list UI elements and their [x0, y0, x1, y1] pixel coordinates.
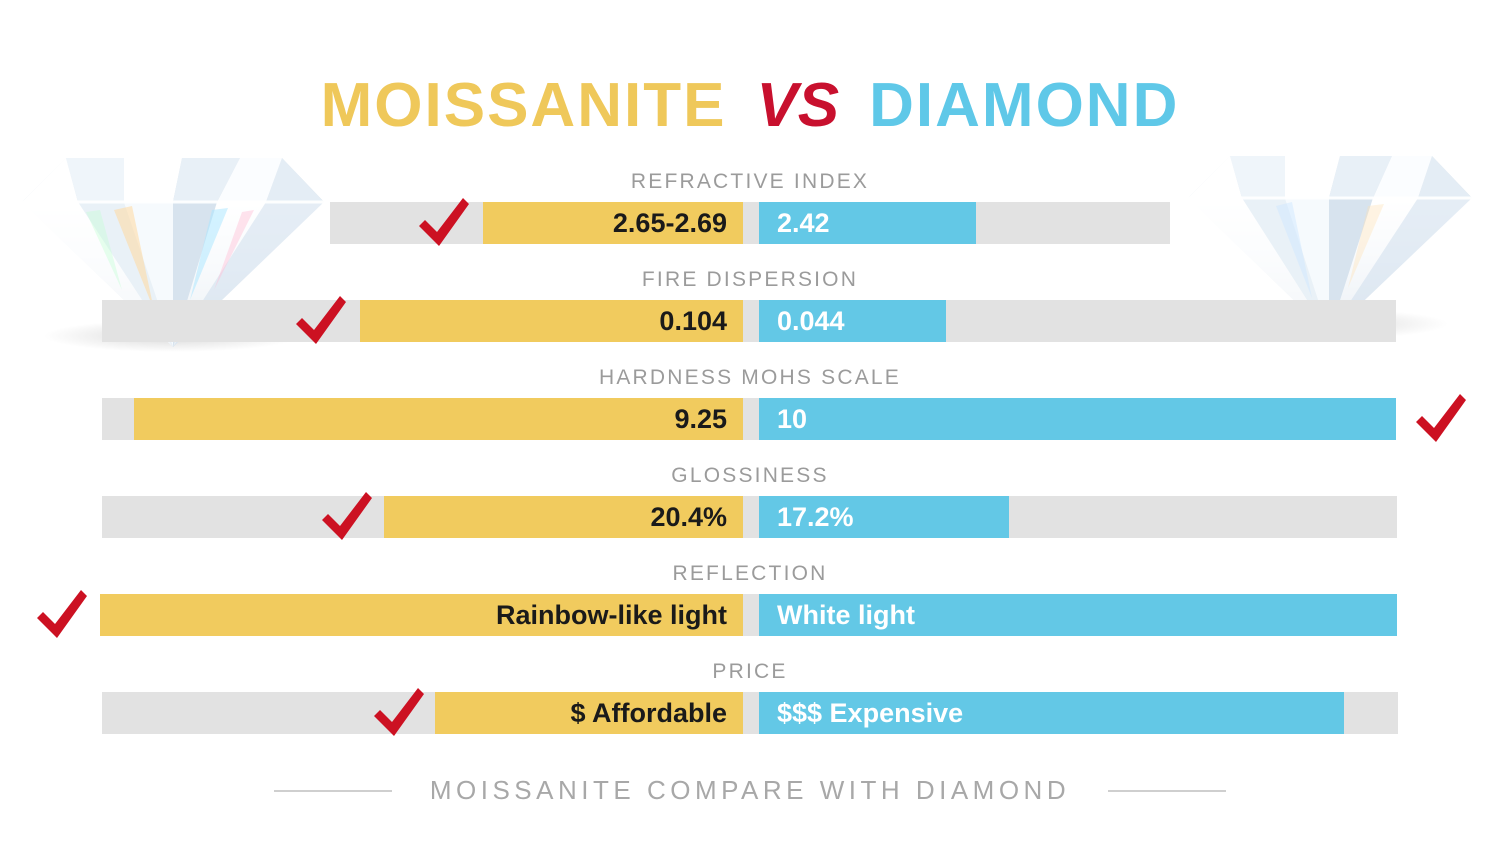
row-label: FIRE DISPERSION	[0, 268, 1500, 292]
row-label: GLOSSINESS	[0, 464, 1500, 488]
check-icon	[415, 196, 471, 252]
footer-rule-right	[1108, 790, 1226, 792]
diamond-value: $$$ Expensive	[777, 698, 963, 729]
moissanite-bar: Rainbow-like light	[100, 594, 743, 636]
moissanite-bar: $ Affordable	[435, 692, 743, 734]
row-track	[102, 496, 1397, 538]
diamond-bar: 17.2%	[759, 496, 1009, 538]
diamond-bar: White light	[759, 594, 1397, 636]
check-icon	[370, 686, 426, 742]
title-moissanite: MOISSANITE	[321, 70, 727, 142]
diamond-value: 17.2%	[777, 502, 854, 533]
diamond-value: White light	[777, 600, 915, 631]
moissanite-bar: 9.25	[134, 398, 743, 440]
moissanite-value: $ Affordable	[570, 698, 727, 729]
moissanite-value: Rainbow-like light	[496, 600, 727, 631]
check-icon	[33, 588, 89, 644]
row-label: HARDNESS MOHS SCALE	[0, 366, 1500, 390]
footer-text: MOISSANITE COMPARE WITH DIAMOND	[430, 775, 1070, 806]
diamond-bar: 0.044	[759, 300, 946, 342]
diamond-value: 2.42	[777, 208, 830, 239]
page-title: MOISSANITEVSDIAMOND	[0, 66, 1500, 142]
diamond-value: 10	[777, 404, 807, 435]
check-icon	[292, 294, 348, 350]
diamond-bar: $$$ Expensive	[759, 692, 1344, 734]
moissanite-bar: 0.104	[360, 300, 743, 342]
moissanite-value: 9.25	[674, 404, 727, 435]
title-vs: VS	[756, 70, 839, 142]
diamond-bar: 2.42	[759, 202, 976, 244]
check-icon	[1412, 392, 1468, 448]
moissanite-value: 20.4%	[650, 502, 727, 533]
row-label: REFRACTIVE INDEX	[0, 170, 1500, 194]
infographic-canvas: MOISSANITEVSDIAMOND	[0, 0, 1500, 850]
moissanite-value: 2.65-2.69	[613, 208, 727, 239]
row-label: PRICE	[0, 660, 1500, 684]
row-label: REFLECTION	[0, 562, 1500, 586]
footer-caption: MOISSANITE COMPARE WITH DIAMOND	[0, 775, 1500, 806]
diamond-bar: 10	[759, 398, 1396, 440]
check-icon	[318, 490, 374, 546]
footer-rule-left	[274, 790, 392, 792]
diamond-value: 0.044	[777, 306, 845, 337]
moissanite-bar: 2.65-2.69	[483, 202, 743, 244]
moissanite-value: 0.104	[659, 306, 727, 337]
title-diamond: DIAMOND	[869, 70, 1179, 142]
moissanite-bar: 20.4%	[384, 496, 743, 538]
